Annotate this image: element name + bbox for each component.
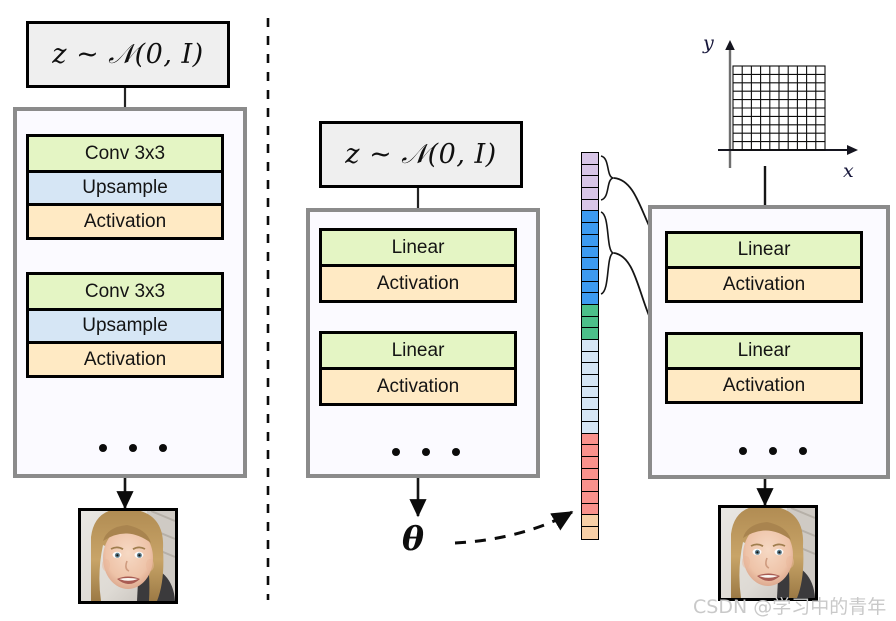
figure-canvas: z ~ 𝒩(0, I) Conv 3x3 Upsample Activation…: [0, 0, 896, 621]
weight-vector-cell: [582, 398, 598, 410]
weight-vector-cell: [582, 422, 598, 434]
weight-vector-cell: [582, 375, 598, 387]
weight-vector-cell: [582, 457, 598, 469]
brace-lower: [601, 212, 613, 294]
watermark: CSDN @学习中的青年: [693, 592, 886, 619]
left-block-2: Conv 3x3 Upsample Activation: [26, 272, 224, 378]
weight-vector-cell: [582, 223, 598, 235]
left-block-1: Conv 3x3 Upsample Activation: [26, 134, 224, 240]
weight-vector-cell: [582, 282, 598, 294]
weight-vector-cell: [582, 328, 598, 340]
weight-vector-cell: [582, 363, 598, 375]
weight-vector-cell: [582, 352, 598, 364]
synthesis-ellipsis: [739, 447, 807, 455]
weight-vector-cell: [582, 469, 598, 481]
weight-vector-cell: [582, 293, 598, 305]
left-block-1-row-conv: Conv 3x3: [29, 137, 221, 170]
left-block-2-row-conv: Conv 3x3: [29, 275, 221, 308]
weight-vector-cell: [582, 410, 598, 422]
weight-vector-cell: [582, 504, 598, 516]
synthesis-block-1-row-linear: Linear: [668, 234, 860, 266]
left-latent-box: z ~ 𝒩(0, I): [26, 21, 230, 88]
left-block-1-row-activation: Activation: [29, 203, 221, 237]
left-block-1-row-upsample: Upsample: [29, 170, 221, 203]
right-output-face-image: [718, 505, 818, 601]
weight-vector-cell: [582, 211, 598, 223]
weight-vector-cell: [582, 258, 598, 270]
synthesis-block-2-row-activation: Activation: [668, 367, 860, 401]
weight-vector-cell: [582, 340, 598, 352]
synthesis-block-2-row-linear: Linear: [668, 335, 860, 367]
weight-vector-cell: [582, 317, 598, 329]
theta-label: θ: [402, 519, 424, 558]
mapping-ellipsis: [392, 448, 460, 456]
weight-vector-cell: [582, 434, 598, 446]
synthesis-block-1: Linear Activation: [665, 231, 863, 303]
theta-to-vector-arrow: [455, 512, 572, 543]
weight-vector-cell: [582, 492, 598, 504]
weight-vector-cell: [582, 188, 598, 200]
weight-vector-cell: [582, 270, 598, 282]
weight-vector-cell: [582, 153, 598, 165]
mapping-block-2-row-activation: Activation: [322, 367, 514, 403]
grid-y-axis-label: y: [703, 32, 714, 54]
mapping-block-1-row-activation: Activation: [322, 264, 514, 300]
weight-vector-cell: [582, 176, 598, 188]
synthesis-block-2: Linear Activation: [665, 332, 863, 404]
mapping-block-1: Linear Activation: [319, 228, 517, 303]
left-output-face-image: [78, 508, 178, 604]
weight-vector-cell: [582, 247, 598, 259]
weight-vector-cell: [582, 387, 598, 399]
middle-latent-box: z ~ 𝒩(0, I): [319, 121, 523, 188]
left-ellipsis: [99, 444, 167, 452]
weight-vector-cell: [582, 305, 598, 317]
weight-vector-cell: [582, 515, 598, 527]
weight-vector-cell: [582, 480, 598, 492]
mapping-block-2-row-linear: Linear: [322, 334, 514, 367]
brace-upper: [601, 156, 613, 200]
xy-coordinate-grid: [690, 28, 870, 173]
grid-x-axis-label: x: [843, 160, 854, 182]
weight-vector-cell: [582, 527, 598, 539]
weight-vector-cell: [582, 165, 598, 177]
mapping-block-1-row-linear: Linear: [322, 231, 514, 264]
weight-vector-cell: [582, 235, 598, 247]
synthesis-block-1-row-activation: Activation: [668, 266, 860, 300]
left-latent-label: z ~ 𝒩(0, I): [52, 39, 203, 71]
weight-vector-cell: [582, 445, 598, 457]
modulated-weight-vector: [581, 152, 599, 540]
middle-latent-label: z ~ 𝒩(0, I): [345, 139, 496, 171]
left-block-2-row-activation: Activation: [29, 341, 221, 375]
left-block-2-row-upsample: Upsample: [29, 308, 221, 341]
mapping-block-2: Linear Activation: [319, 331, 517, 406]
weight-vector-cell: [582, 200, 598, 212]
